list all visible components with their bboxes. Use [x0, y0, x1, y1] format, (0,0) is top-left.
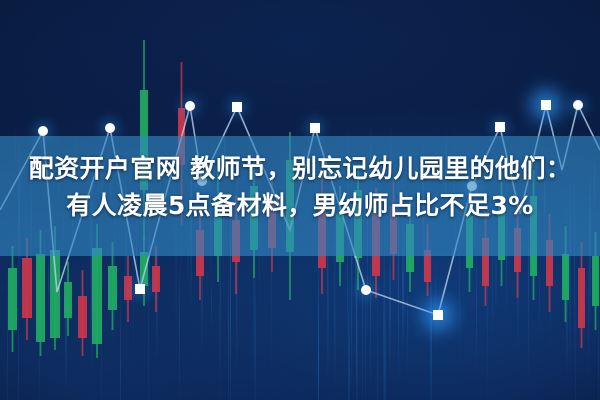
headline-line-2: 有人凌晨5点备材料，男幼师占比不足3% [0, 187, 600, 224]
headline-line-1: 配资开户官网 教师节，别忘记幼儿园里的他们： [0, 150, 600, 187]
headline: 配资开户官网 教师节，别忘记幼儿园里的他们： 有人凌晨5点备材料，男幼师占比不足… [0, 150, 600, 224]
cover-image: 配资开户官网 教师节，别忘记幼儿园里的他们： 有人凌晨5点备材料，男幼师占比不足… [0, 0, 600, 400]
